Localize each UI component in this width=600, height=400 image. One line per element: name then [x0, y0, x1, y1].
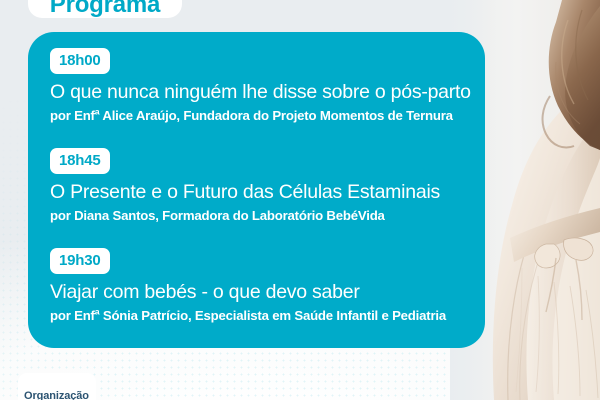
program-card: 18h00 O que nunca ninguém lhe disse sobr… [28, 32, 485, 348]
organizer-label: Organização [24, 390, 89, 400]
session-speaker: por Diana Santos, Formadora do Laboratór… [50, 208, 463, 224]
program-title-badge: Programa [28, 0, 182, 18]
session-speaker-prefix: por Enf [50, 308, 95, 323]
session-title: Viajar com bebés - o que devo saber [50, 281, 463, 304]
session-speaker: por Enfa Alice Araújo, Fundadora do Proj… [50, 108, 463, 124]
page-title: Programa [50, 0, 160, 17]
session-speaker-rest: Alice Araújo, Fundadora do Projeto Momen… [99, 108, 452, 123]
session-item[interactable]: 19h30 Viajar com bebés - o que devo sabe… [50, 246, 463, 324]
session-time-badge: 19h30 [50, 248, 110, 274]
session-title: O que nunca ninguém lhe disse sobre o pó… [50, 81, 463, 104]
session-item[interactable]: 18h45 O Presente e o Futuro das Células … [50, 146, 463, 224]
session-time-badge: 18h00 [50, 48, 110, 74]
organizer-box: Organização [18, 373, 96, 400]
session-speaker: por Enfa Sónia Patrício, Especialista em… [50, 308, 463, 324]
session-speaker-prefix: por Enf [50, 108, 95, 123]
session-time-badge: 18h45 [50, 148, 110, 174]
session-item[interactable]: 18h00 O que nunca ninguém lhe disse sobr… [50, 46, 463, 124]
session-title: O Presente e o Futuro das Células Estami… [50, 181, 463, 204]
content-stage: Programa 18h00 O que nunca ninguém lhe d… [0, 0, 600, 400]
session-speaker-prefix: por Diana Santos, Formadora do Laboratór… [50, 208, 385, 223]
session-speaker-rest: Sónia Patrício, Especialista em Saúde In… [99, 308, 446, 323]
